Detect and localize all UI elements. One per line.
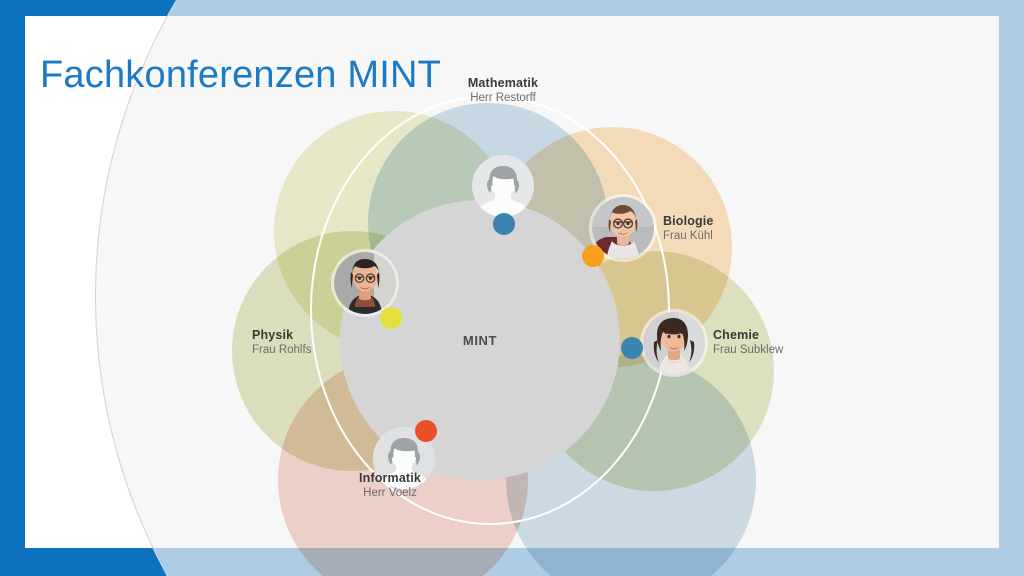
label-physik-person: Frau Rohlfs [252,343,311,358]
label-chemie-subject: Chemie [713,327,783,343]
person-placeholder-icon [472,155,534,217]
dot-biologie[interactable] [582,245,604,267]
label-physik: Physik Frau Rohlfs [252,327,311,358]
dot-mathematik[interactable] [493,213,515,235]
dot-chemie[interactable] [621,337,643,359]
label-biologie-person: Frau Kühl [663,229,714,244]
label-biologie-subject: Biologie [663,213,714,229]
label-biologie: Biologie Frau Kühl [663,213,714,244]
label-informatik: Informatik Herr Voelz [310,470,470,501]
label-chemie: Chemie Frau Subklew [713,327,783,358]
avatar-chemie[interactable] [643,312,705,374]
portrait-photo-rohlfs [334,252,396,314]
label-chemie-person: Frau Subklew [713,343,783,358]
label-informatik-subject: Informatik [310,470,470,486]
dot-informatik[interactable] [415,420,437,442]
label-informatik-person: Herr Voelz [310,486,470,501]
slide-root: Fachkonferenzen MINT MINT Mathematik [0,0,1024,576]
portrait-photo-subklew [643,312,705,374]
avatar-physik[interactable] [334,252,396,314]
label-mathematik-person: Herr Restorff [413,91,593,106]
avatar-mathematik[interactable] [472,155,534,217]
mint-venn-diagram: MINT Mathematik Herr Restorff [170,55,870,555]
label-mathematik-subject: Mathematik [413,75,593,91]
label-physik-subject: Physik [252,327,311,343]
label-mathematik: Mathematik Herr Restorff [413,75,593,106]
dot-physik[interactable] [380,307,402,329]
